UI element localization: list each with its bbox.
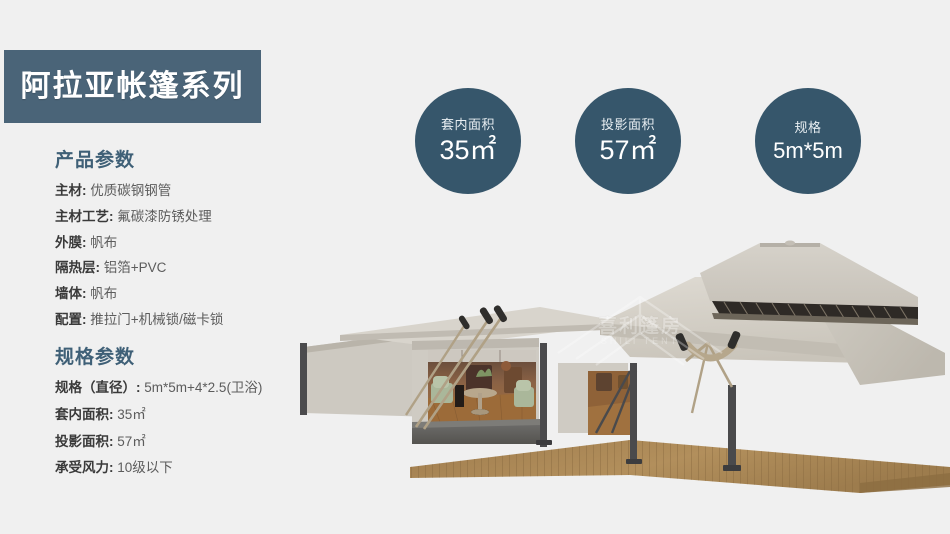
param-value: 推拉门+机械锁/磁卡锁 [90, 312, 223, 327]
param-key: 主材: [55, 183, 87, 198]
param-key: 外膜: [55, 235, 87, 250]
badge-value: 5m*5m [773, 140, 843, 162]
list-item: 外膜: 帆布 [55, 235, 330, 252]
param-value: 氟碳漆防锈处理 [117, 209, 212, 224]
list-item: 配置: 推拉门+机械锁/磁卡锁 [55, 312, 330, 329]
page-root: 阿拉亚帐篷系列 产品参数 主材: 优质碳钢钢管 主材工艺: 氟碳漆防锈处理 外膜… [0, 0, 950, 534]
list-item: 主材工艺: 氟碳漆防锈处理 [55, 209, 330, 226]
badge-value: 35㎡ [439, 137, 496, 164]
title-banner: 阿拉亚帐篷系列 [4, 50, 261, 123]
tent-render-svg [300, 235, 950, 525]
support-post-deck [728, 385, 736, 469]
page-title: 阿拉亚帐篷系列 [21, 72, 245, 102]
badge-interior-area: 套内面积 35㎡ [415, 88, 521, 194]
param-value: 帆布 [90, 286, 117, 301]
badge-label: 套内面积 [441, 118, 495, 131]
upper-roof [700, 243, 918, 307]
param-key: 承受风力: [55, 460, 114, 475]
list-item: 投影面积: 57㎡ [55, 434, 330, 451]
param-key: 配置: [55, 312, 87, 327]
badge-value: 57㎡ [599, 137, 656, 164]
roof-apex [785, 241, 795, 246]
spec-params-heading: 规格参数 [55, 347, 330, 370]
badge-label: 规格 [794, 121, 821, 134]
product-params-list: 主材: 优质碳钢钢管 主材工艺: 氟碳漆防锈处理 外膜: 帆布 隔热层: 铝箔+… [0, 183, 330, 329]
list-item: 承受风力: 10级以下 [55, 460, 330, 477]
support-post-center [540, 343, 547, 447]
param-key: 规格（直径）: [55, 380, 141, 395]
badge-dimensions: 规格 5m*5m [755, 88, 861, 194]
product-params-block: 产品参数 主材: 优质碳钢钢管 主材工艺: 氟碳漆防锈处理 外膜: 帆布 隔热层… [0, 150, 330, 329]
param-value: 优质碳钢钢管 [90, 183, 171, 198]
param-value: 帆布 [90, 235, 117, 250]
spec-params-list: 规格（直径）: 5m*5m+4*2.5(卫浴) 套内面积: 35㎡ 投影面积: … [0, 380, 330, 478]
product-params-heading: 产品参数 [55, 150, 330, 173]
param-key: 隔热层: [55, 260, 100, 275]
param-key: 墙体: [55, 286, 87, 301]
badge-projected-area: 投影面积 57㎡ [575, 88, 681, 194]
param-value: 35㎡ [117, 407, 146, 422]
param-value: 铝箔+PVC [104, 260, 167, 275]
list-item: 隔热层: 铝箔+PVC [55, 260, 330, 277]
tent-illustration: 喜利篷房 SHILI TENT [300, 235, 950, 525]
list-item: 套内面积: 35㎡ [55, 407, 330, 424]
param-key: 主材工艺: [55, 209, 114, 224]
param-value: 10级以下 [117, 460, 173, 475]
list-item: 墙体: 帆布 [55, 286, 330, 303]
param-value: 57㎡ [117, 434, 146, 449]
list-item: 规格（直径）: 5m*5m+4*2.5(卫浴) [55, 380, 330, 397]
left-support-post [300, 343, 307, 415]
param-key: 套内面积: [55, 407, 114, 422]
param-key: 投影面积: [55, 434, 114, 449]
info-panel: 产品参数 主材: 优质碳钢钢管 主材工艺: 氟碳漆防锈处理 外膜: 帆布 隔热层… [0, 150, 330, 487]
list-item: 主材: 优质碳钢钢管 [55, 183, 330, 200]
spec-params-block: 规格参数 规格（直径）: 5m*5m+4*2.5(卫浴) 套内面积: 35㎡ 投… [0, 347, 330, 477]
badge-label: 投影面积 [601, 118, 655, 131]
param-value: 5m*5m+4*2.5(卫浴) [144, 380, 262, 395]
